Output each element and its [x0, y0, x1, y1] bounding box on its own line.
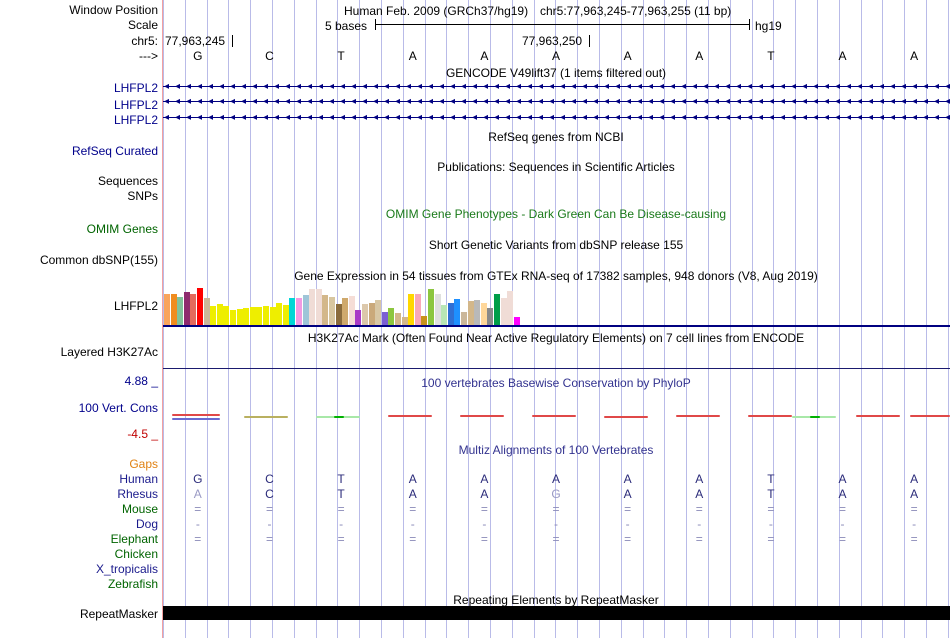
base-letter: A — [902, 50, 926, 62]
gene-strand-arrow-icon: ◂ — [681, 97, 686, 106]
gtex-tissue-bar[interactable] — [355, 310, 361, 325]
gene-strand-arrow-icon: ◂ — [890, 82, 895, 91]
left-edge-marker — [162, 0, 163, 638]
gene-strand-arrow-icon: ◂ — [494, 82, 499, 91]
gene-strand-arrow-icon: ◂ — [340, 113, 345, 122]
gene-strand-arrow-icon: ◂ — [164, 82, 169, 91]
gene-strand-arrow-icon: ◂ — [615, 113, 620, 122]
alignment-base-human: A — [401, 473, 425, 485]
gene-strand-arrow-icon: ◂ — [241, 82, 246, 91]
gtex-tissue-bar[interactable] — [336, 304, 342, 325]
base-letter: A — [544, 50, 568, 62]
gene-strand-arrow-icon: ◂ — [648, 97, 653, 106]
gene-strand-arrow-icon: ◂ — [516, 82, 521, 91]
gtex-tissue-bar[interactable] — [501, 298, 507, 325]
gene-strand-arrow-icon: ◂ — [164, 97, 169, 106]
gtex-tissue-bar[interactable] — [481, 303, 487, 325]
gene-strand-arrow-icon: ◂ — [274, 113, 279, 122]
gene-strand-arrow-icon: ◂ — [890, 113, 895, 122]
species-label-elephant[interactable]: Elephant — [111, 533, 158, 545]
gene-strand-arrow-icon: ◂ — [428, 97, 433, 106]
title-dbsnp: Short Genetic Variants from dbSNP releas… — [162, 239, 950, 251]
gene-strand-arrow-icon: ◂ — [934, 82, 939, 91]
gene-strand-arrow-icon: ◂ — [593, 97, 598, 106]
phylop-conservation-wiggle[interactable] — [162, 408, 950, 428]
label-gene-row-2[interactable]: LHFPL2 — [114, 99, 158, 111]
gene-strand-arrow-icon: ◂ — [923, 97, 928, 106]
label-omim-genes[interactable]: OMIM Genes — [87, 223, 158, 235]
alignment-base-mouse: = — [831, 503, 855, 515]
gtex-tissue-bar[interactable] — [296, 298, 302, 325]
gtex-tissue-bar[interactable] — [415, 294, 421, 326]
gtex-tissue-bar[interactable] — [369, 303, 375, 325]
gene-strand-arrow-icon: ◂ — [219, 82, 224, 91]
gene-strand-arrow-icon: ◂ — [758, 97, 763, 106]
gtex-tissue-bar[interactable] — [171, 294, 177, 326]
species-label-x_tropicalis[interactable]: X_tropicalis — [96, 563, 158, 575]
gene-strand-arrow-icon: ◂ — [406, 113, 411, 122]
gene-strand-arrow-icon: ◂ — [945, 97, 950, 106]
gene-strand-arrow-icon: ◂ — [945, 82, 950, 91]
species-label-rhesus[interactable]: Rhesus — [117, 488, 158, 500]
gene-strand-arrow-icon: ◂ — [373, 82, 378, 91]
position-tick-mark — [232, 35, 233, 47]
conservation-segment — [172, 414, 220, 416]
gene-strand-arrow-icon: ◂ — [472, 82, 477, 91]
gene-strand-arrow-icon: ◂ — [560, 113, 565, 122]
base-letter: A — [687, 50, 711, 62]
alignment-base-mouse: = — [902, 503, 926, 515]
gtex-tissue-bar[interactable] — [177, 297, 183, 325]
conservation-segment — [676, 415, 720, 417]
gene-strand-arrow-icon: ◂ — [483, 82, 488, 91]
gene-strand-arrow-icon: ◂ — [351, 113, 356, 122]
alignment-base-rhesus: A — [186, 488, 210, 500]
gene-strand-arrow-icon: ◂ — [857, 97, 862, 106]
gene-strand-arrow-icon: ◂ — [879, 97, 884, 106]
conservation-segment — [604, 416, 648, 418]
alignment-base-rhesus: A — [902, 488, 926, 500]
gene-strand-arrow-icon: ◂ — [637, 82, 642, 91]
species-label-human[interactable]: Human — [119, 473, 158, 485]
alignment-base-rhesus: T — [759, 488, 783, 500]
gene-strand-arrow-icon: ◂ — [362, 82, 367, 91]
gene-strand-arrow-icon: ◂ — [285, 113, 290, 122]
gtex-tissue-bar[interactable] — [461, 312, 467, 325]
gene-strand-arrow-icon: ◂ — [703, 97, 708, 106]
gene-strand-arrow-icon: ◂ — [582, 82, 587, 91]
gene-strand-arrow-icon: ◂ — [659, 82, 664, 91]
gtex-tissue-bar[interactable] — [448, 303, 454, 325]
gene-strand-arrow-icon: ◂ — [626, 82, 631, 91]
label-snps[interactable]: SNPs — [127, 190, 158, 202]
gene-strand-arrow-icon: ◂ — [252, 97, 257, 106]
gene-strand-arrow-icon: ◂ — [857, 113, 862, 122]
gene-strand-arrow-icon: ◂ — [901, 113, 906, 122]
gene-strand-arrow-icon: ◂ — [406, 82, 411, 91]
gtex-tissue-bar[interactable] — [309, 289, 315, 325]
gtex-tissue-bar[interactable] — [388, 308, 394, 325]
alignment-base-mouse: = — [687, 503, 711, 515]
label-gaps[interactable]: Gaps — [129, 458, 158, 470]
gtex-tissue-bar[interactable] — [342, 298, 348, 325]
gene-strand-arrow-icon: ◂ — [769, 97, 774, 106]
conservation-segment — [810, 416, 820, 418]
gene-strand-arrow-icon: ◂ — [395, 113, 400, 122]
gene-strand-arrow-icon: ◂ — [780, 113, 785, 122]
gene-strand-arrow-icon: ◂ — [307, 97, 312, 106]
gtex-tissue-bar[interactable] — [250, 307, 256, 325]
gtex-tissue-bar[interactable] — [514, 317, 520, 325]
title-h3k27ac: H3K27Ac Mark (Often Found Near Active Re… — [162, 332, 950, 344]
gene-strand-arrow-icon: ◂ — [329, 97, 334, 106]
gene-strand-arrow-icon: ◂ — [186, 113, 191, 122]
gene-strand-arrow-icon: ◂ — [637, 113, 642, 122]
gene-strand-arrow-icon: ◂ — [912, 113, 917, 122]
gene-strand-arrow-icon: ◂ — [791, 97, 796, 106]
gene-strand-arrow-icon: ◂ — [681, 82, 686, 91]
alignment-base-human: A — [831, 473, 855, 485]
gene-strand-arrow-icon: ◂ — [362, 113, 367, 122]
label-sequences[interactable]: Sequences — [98, 175, 158, 187]
gene-strand-arrow-icon: ◂ — [538, 97, 543, 106]
conservation-segment — [910, 415, 950, 417]
gtex-tissue-bar[interactable] — [204, 298, 210, 325]
gtex-tissue-bar[interactable] — [237, 309, 243, 325]
base-letter: T — [759, 50, 783, 62]
gene-strand-arrow-icon: ◂ — [197, 113, 202, 122]
gtex-tissue-bar[interactable] — [421, 316, 427, 325]
alignment-base-mouse: = — [616, 503, 640, 515]
gene-strand-arrow-icon: ◂ — [329, 113, 334, 122]
gtex-tissue-bar[interactable] — [283, 305, 289, 325]
gtex-tissue-bar[interactable] — [382, 312, 388, 325]
gene-strand-arrow-icon: ◂ — [186, 82, 191, 91]
gene-strand-arrow-icon: ◂ — [549, 113, 554, 122]
alignment-base-mouse: = — [329, 503, 353, 515]
gtex-tissue-bar[interactable] — [402, 317, 408, 325]
gene-strand-arrow-icon: ◂ — [747, 82, 752, 91]
alignment-base-dog: - — [759, 518, 783, 530]
gtex-tissue-bar[interactable] — [494, 294, 500, 326]
gene-strand-arrow-icon: ◂ — [670, 82, 675, 91]
title-repeatmasker: Repeating Elements by RepeatMasker — [162, 594, 950, 606]
gene-strand-arrow-icon: ◂ — [241, 113, 246, 122]
gene-strand-arrow-icon: ◂ — [692, 82, 697, 91]
gene-strand-arrow-icon: ◂ — [725, 97, 730, 106]
gene-strand-arrow-icon: ◂ — [505, 97, 510, 106]
gene-strand-arrow-icon: ◂ — [406, 97, 411, 106]
gene-strand-arrow-icon: ◂ — [747, 97, 752, 106]
gene-strand-arrow-icon: ◂ — [549, 82, 554, 91]
gene-strand-arrow-icon: ◂ — [175, 113, 180, 122]
label-gtex-gene[interactable]: LHFPL2 — [114, 300, 158, 312]
gene-strand-arrow-icon: ◂ — [483, 113, 488, 122]
gene-strand-arrow-icon: ◂ — [747, 113, 752, 122]
alignment-base-dog: - — [401, 518, 425, 530]
gtex-tissue-bar[interactable] — [289, 298, 295, 325]
gene-strand-arrow-icon: ◂ — [373, 113, 378, 122]
assembly-label: Human Feb. 2009 (GRCh37/hg19) — [344, 4, 528, 18]
gtex-tissue-bar[interactable] — [375, 300, 381, 325]
gene-strand-arrow-icon: ◂ — [923, 82, 928, 91]
gene-strand-arrow-icon: ◂ — [527, 97, 532, 106]
alignment-base-dog: - — [902, 518, 926, 530]
alignment-base-rhesus: C — [257, 488, 281, 500]
gene-strand-arrow-icon: ◂ — [428, 113, 433, 122]
base-letter: A — [831, 50, 855, 62]
gene-strand-arrow-icon: ◂ — [846, 97, 851, 106]
gtex-tissue-bar[interactable] — [428, 289, 434, 325]
gtex-tissue-bar[interactable] — [210, 306, 216, 325]
gene-strand-arrow-icon: ◂ — [824, 82, 829, 91]
alignment-base-dog: - — [186, 518, 210, 530]
gene-strand-arrow-icon: ◂ — [516, 97, 521, 106]
alignment-base-elephant: = — [472, 533, 496, 545]
scale-bar — [375, 19, 750, 30]
alignment-base-human: A — [687, 473, 711, 485]
gene-strand-arrow-icon: ◂ — [450, 82, 455, 91]
label-chrom: chr5: — [131, 35, 158, 47]
gene-strand-arrow-icon: ◂ — [461, 82, 466, 91]
base-letter: T — [329, 50, 353, 62]
gene-strand-arrow-icon: ◂ — [373, 97, 378, 106]
h3k27ac-separator — [162, 368, 950, 369]
gene-strand-arrow-icon: ◂ — [494, 97, 499, 106]
gtex-tissue-bar[interactable] — [256, 307, 262, 325]
gene-strand-arrow-icon: ◂ — [571, 97, 576, 106]
alignment-base-human: G — [186, 473, 210, 485]
gene-strand-arrow-icon: ◂ — [164, 113, 169, 122]
alignment-base-mouse: = — [257, 503, 281, 515]
alignment-base-elephant: = — [759, 533, 783, 545]
gtex-tissue-bar[interactable] — [223, 306, 229, 325]
alignment-base-rhesus: A — [401, 488, 425, 500]
species-label-zebrafish[interactable]: Zebrafish — [108, 578, 158, 590]
gene-strand-arrow-icon: ◂ — [714, 97, 719, 106]
gtex-tissue-bar[interactable] — [217, 304, 223, 325]
gene-strand-arrow-icon: ◂ — [307, 113, 312, 122]
gene-strand-arrow-icon: ◂ — [560, 82, 565, 91]
gene-strand-arrow-icon: ◂ — [230, 113, 235, 122]
gene-strand-arrow-icon: ◂ — [868, 82, 873, 91]
gene-strand-arrow-icon: ◂ — [307, 82, 312, 91]
gene-strand-arrow-icon: ◂ — [626, 97, 631, 106]
gene-strand-arrow-icon: ◂ — [934, 113, 939, 122]
gene-strand-arrow-icon: ◂ — [208, 82, 213, 91]
gene-strand-arrow-icon: ◂ — [362, 97, 367, 106]
label-repeatmasker[interactable]: RepeatMasker — [80, 608, 158, 620]
gtex-tissue-bar[interactable] — [230, 310, 236, 325]
gene-strand-arrow-icon: ◂ — [296, 97, 301, 106]
alignment-base-mouse: = — [544, 503, 568, 515]
browser-data-area[interactable]: Human Feb. 2009 (GRCh37/hg19) chr5:77,96… — [162, 0, 950, 638]
gene-strand-arrow-icon: ◂ — [417, 82, 422, 91]
species-label-dog[interactable]: Dog — [136, 518, 158, 530]
alignment-base-dog: - — [616, 518, 640, 530]
gene-strand-arrow-icon: ◂ — [901, 82, 906, 91]
gene-strand-arrow-icon: ◂ — [890, 97, 895, 106]
gene-strand-arrow-icon: ◂ — [703, 113, 708, 122]
gene-strand-arrow-icon: ◂ — [692, 97, 697, 106]
gene-strand-arrow-icon: ◂ — [945, 113, 950, 122]
label-cons-track[interactable]: 100 Vert. Cons — [79, 402, 158, 414]
gtex-tissue-bar[interactable] — [164, 294, 170, 326]
gtex-tissue-bar[interactable] — [454, 299, 460, 325]
alignment-base-mouse: = — [472, 503, 496, 515]
gene-strand-arrow-icon: ◂ — [670, 113, 675, 122]
gene-strand-arrow-icon: ◂ — [461, 113, 466, 122]
title-publications: Publications: Sequences in Scientific Ar… — [162, 161, 950, 173]
base-letter: A — [616, 50, 640, 62]
gtex-tissue-bar[interactable] — [362, 304, 368, 325]
gene-strand-arrow-icon: ◂ — [340, 82, 345, 91]
alignment-base-elephant: = — [687, 533, 711, 545]
gene-strand-arrow-icon: ◂ — [351, 82, 356, 91]
gtex-tissue-bar[interactable] — [408, 294, 414, 326]
gtex-tissue-bar[interactable] — [184, 292, 190, 325]
gene-strand-arrow-icon: ◂ — [516, 113, 521, 122]
gene-strand-arrow-icon: ◂ — [208, 97, 213, 106]
gene-strand-arrow-icon: ◂ — [252, 113, 257, 122]
gene-strand-arrow-icon: ◂ — [835, 82, 840, 91]
gtex-tissue-bar[interactable] — [395, 313, 401, 325]
gene-strand-arrow-icon: ◂ — [725, 82, 730, 91]
gtex-tissue-bar[interactable] — [243, 308, 249, 325]
alignment-base-dog: - — [329, 518, 353, 530]
gene-strand-arrow-icon: ◂ — [593, 82, 598, 91]
gene-strand-arrow-icon: ◂ — [208, 113, 213, 122]
gene-strand-arrow-icon: ◂ — [736, 97, 741, 106]
gtex-tissue-bar[interactable] — [190, 294, 196, 326]
gtex-tissue-bar[interactable] — [322, 295, 328, 325]
gene-strand-arrow-icon: ◂ — [857, 82, 862, 91]
label-strand-arrow: ---> — [139, 50, 158, 62]
gene-strand-arrow-icon: ◂ — [659, 97, 664, 106]
alignment-base-human: A — [616, 473, 640, 485]
gene-strand-arrow-icon: ◂ — [615, 97, 620, 106]
alignment-base-elephant: = — [329, 533, 353, 545]
gene-track-row[interactable]: ◂◂◂◂◂◂◂◂◂◂◂◂◂◂◂◂◂◂◂◂◂◂◂◂◂◂◂◂◂◂◂◂◂◂◂◂◂◂◂◂… — [162, 82, 950, 91]
title-phylop: 100 vertebrates Basewise Conservation by… — [162, 377, 950, 389]
gene-strand-arrow-icon: ◂ — [824, 113, 829, 122]
conservation-segment — [748, 415, 792, 417]
gene-intron-line — [162, 101, 950, 102]
title-omim: OMIM Gene Phenotypes - Dark Green Can Be… — [162, 208, 950, 220]
gtex-expression-barchart[interactable] — [164, 283, 950, 325]
alignment-base-elephant: = — [902, 533, 926, 545]
gene-strand-arrow-icon: ◂ — [439, 113, 444, 122]
gene-strand-arrow-icon: ◂ — [912, 97, 917, 106]
gene-strand-arrow-icon: ◂ — [219, 113, 224, 122]
gtex-tissue-bar[interactable] — [468, 301, 474, 325]
gene-strand-arrow-icon: ◂ — [923, 113, 928, 122]
gtex-tissue-bar[interactable] — [276, 303, 282, 325]
gene-strand-arrow-icon: ◂ — [230, 97, 235, 106]
gtex-tissue-bar[interactable] — [507, 291, 513, 325]
gene-strand-arrow-icon: ◂ — [384, 82, 389, 91]
repeatmasker-bar[interactable] — [162, 606, 950, 620]
species-label-chicken[interactable]: Chicken — [115, 548, 158, 560]
label-gene-row-3[interactable]: LHFPL2 — [114, 114, 158, 126]
gene-strand-arrow-icon: ◂ — [846, 113, 851, 122]
gene-strand-arrow-icon: ◂ — [846, 82, 851, 91]
gene-strand-arrow-icon: ◂ — [868, 97, 873, 106]
scale-right-label: hg19 — [755, 19, 782, 33]
position-tick-label: 77,963,245 — [165, 35, 225, 47]
gene-strand-arrow-icon: ◂ — [505, 113, 510, 122]
alignment-base-elephant: = — [186, 533, 210, 545]
gene-strand-arrow-icon: ◂ — [450, 97, 455, 106]
gene-intron-line — [162, 117, 950, 118]
gene-strand-arrow-icon: ◂ — [802, 97, 807, 106]
alignment-base-human: A — [902, 473, 926, 485]
gene-track-row[interactable]: ◂◂◂◂◂◂◂◂◂◂◂◂◂◂◂◂◂◂◂◂◂◂◂◂◂◂◂◂◂◂◂◂◂◂◂◂◂◂◂◂… — [162, 113, 950, 122]
alignment-base-human: A — [544, 473, 568, 485]
gene-strand-arrow-icon: ◂ — [197, 82, 202, 91]
gtex-tissue-bar[interactable] — [316, 289, 322, 325]
gtex-tissue-bar[interactable] — [349, 296, 355, 325]
base-letter: G — [186, 50, 210, 62]
gene-strand-arrow-icon: ◂ — [582, 97, 587, 106]
gtex-tissue-bar[interactable] — [329, 297, 335, 325]
gene-strand-arrow-icon: ◂ — [703, 82, 708, 91]
gtex-tissue-bar[interactable] — [263, 306, 269, 325]
label-common-dbsnp[interactable]: Common dbSNP(155) — [40, 254, 158, 266]
gene-strand-arrow-icon: ◂ — [296, 113, 301, 122]
gene-strand-arrow-icon: ◂ — [879, 113, 884, 122]
gene-strand-arrow-icon: ◂ — [780, 82, 785, 91]
label-refseq-curated[interactable]: RefSeq Curated — [72, 145, 158, 157]
gene-strand-arrow-icon: ◂ — [428, 82, 433, 91]
gtex-tissue-bar[interactable] — [435, 294, 441, 326]
gene-strand-arrow-icon: ◂ — [934, 97, 939, 106]
label-layered-h3k27ac[interactable]: Layered H3K27Ac — [61, 346, 158, 358]
alignment-base-rhesus: A — [616, 488, 640, 500]
gtex-tissue-bar[interactable] — [487, 308, 493, 325]
gtex-tissue-bar[interactable] — [474, 300, 480, 325]
gene-strand-arrow-icon: ◂ — [912, 82, 917, 91]
gtex-tissue-bar[interactable] — [303, 295, 309, 325]
gene-strand-arrow-icon: ◂ — [395, 97, 400, 106]
gene-strand-arrow-icon: ◂ — [549, 97, 554, 106]
base-letter: A — [472, 50, 496, 62]
position-label: chr5:77,963,245-77,963,255 (11 bp) — [540, 4, 731, 18]
label-gene-row-1[interactable]: LHFPL2 — [114, 82, 158, 94]
gene-strand-arrow-icon: ◂ — [604, 82, 609, 91]
gene-strand-arrow-icon: ◂ — [274, 97, 279, 106]
species-label-mouse[interactable]: Mouse — [122, 503, 158, 515]
gene-strand-arrow-icon: ◂ — [681, 113, 686, 122]
gene-strand-arrow-icon: ◂ — [802, 82, 807, 91]
gene-intron-line — [162, 86, 950, 87]
gene-strand-arrow-icon: ◂ — [571, 113, 576, 122]
gene-strand-arrow-icon: ◂ — [285, 97, 290, 106]
gtex-tissue-bar[interactable] — [270, 307, 276, 325]
gene-track-row[interactable]: ◂◂◂◂◂◂◂◂◂◂◂◂◂◂◂◂◂◂◂◂◂◂◂◂◂◂◂◂◂◂◂◂◂◂◂◂◂◂◂◂… — [162, 97, 950, 106]
gtex-tissue-bar[interactable] — [441, 305, 447, 325]
gene-strand-arrow-icon: ◂ — [813, 113, 818, 122]
scale-label: 5 bases — [325, 19, 367, 33]
gene-strand-arrow-icon: ◂ — [175, 97, 180, 106]
gtex-tissue-bar[interactable] — [197, 288, 203, 325]
gene-strand-arrow-icon: ◂ — [901, 97, 906, 106]
gene-strand-arrow-icon: ◂ — [483, 97, 488, 106]
gene-strand-arrow-icon: ◂ — [527, 82, 532, 91]
gene-strand-arrow-icon: ◂ — [593, 113, 598, 122]
gene-strand-arrow-icon: ◂ — [340, 97, 345, 106]
alignment-base-elephant: = — [257, 533, 281, 545]
